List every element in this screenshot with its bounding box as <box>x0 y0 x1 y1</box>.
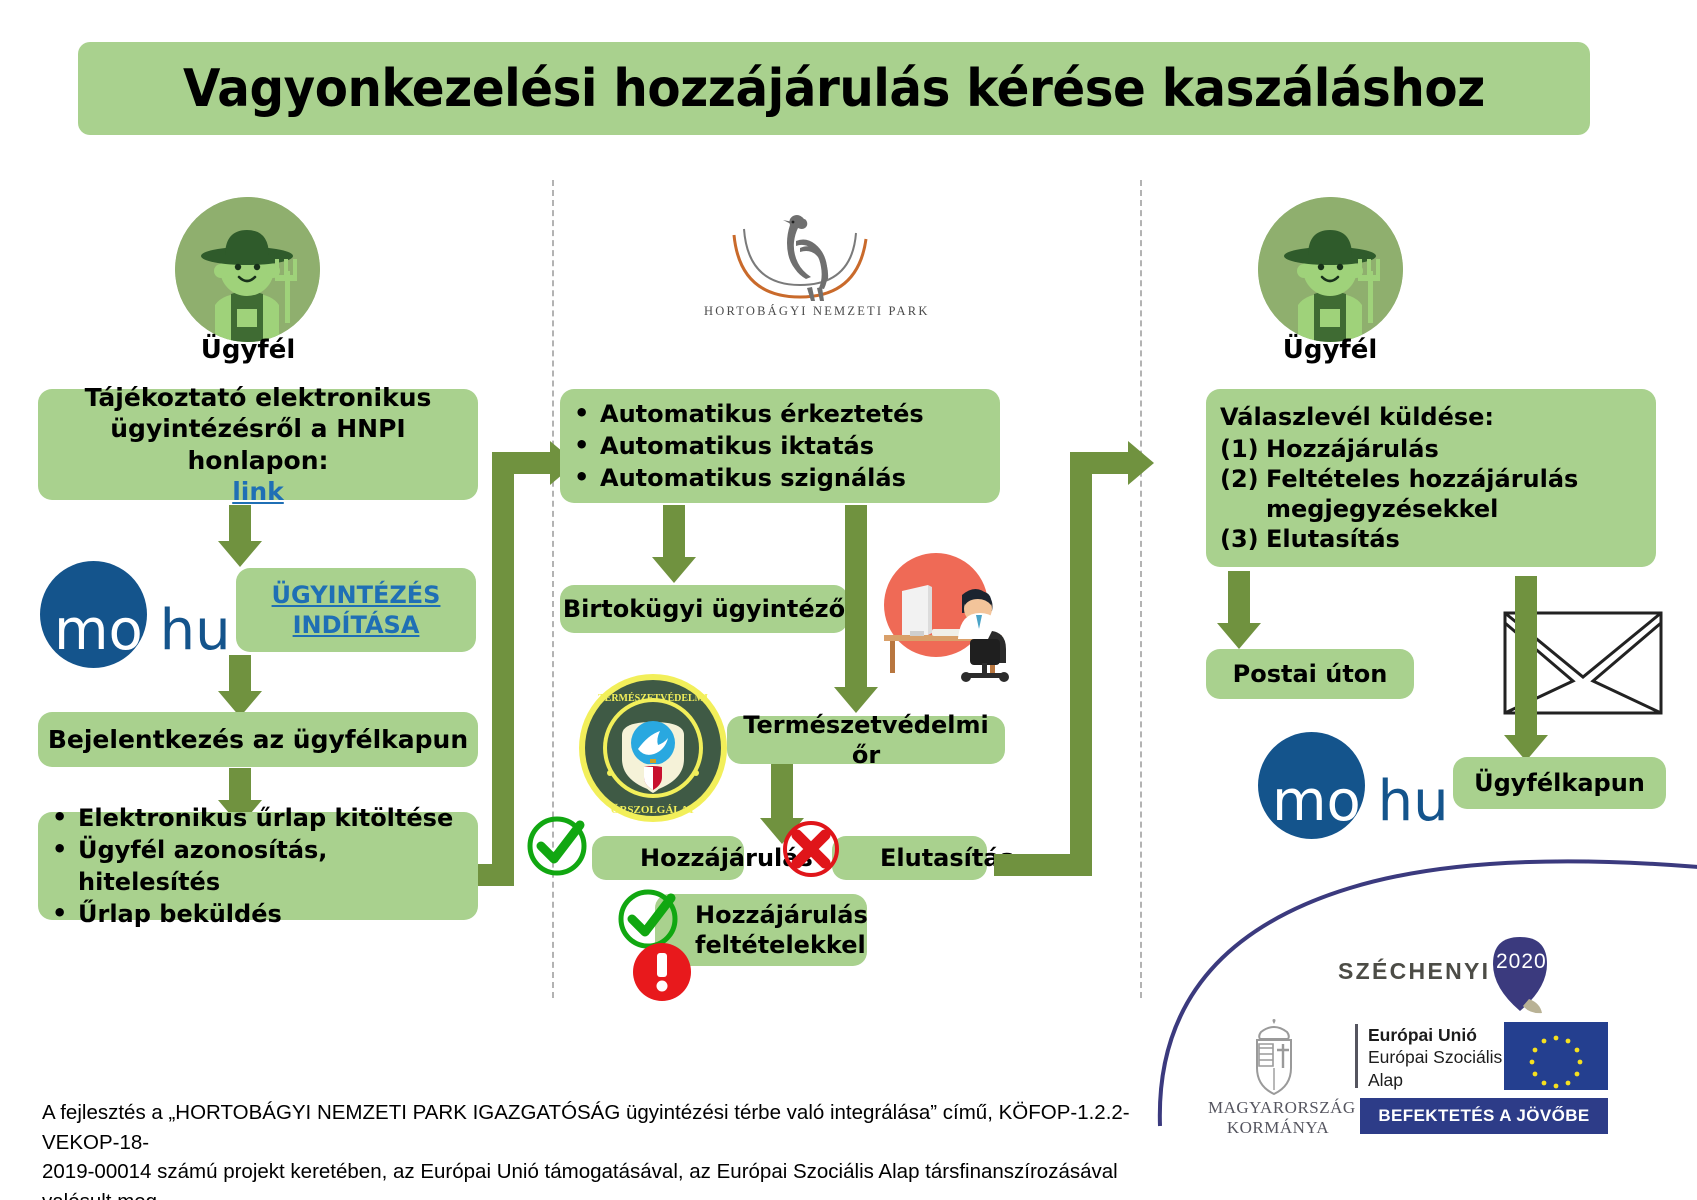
eu-text-block: Európai Unió Európai Szociális Alap <box>1368 1024 1508 1091</box>
automatic-steps-box: Automatikus érkeztetés Automatikus iktat… <box>560 389 1000 503</box>
eu-title: Európai Unió <box>1368 1024 1508 1046</box>
automatic-steps-list: Automatikus érkeztetés Automatikus iktat… <box>564 398 996 494</box>
list-item: Automatikus iktatás <box>564 430 996 462</box>
list-item-text: Feltételes hozzájárulás <box>1266 464 1642 494</box>
arrow-down-right-1 <box>1215 571 1263 649</box>
eu-flag-icon <box>1504 1022 1608 1090</box>
eu-sub-1: Európai Szociális <box>1368 1046 1508 1068</box>
ugyfelkapu-label: Ügyfélkapun <box>1474 768 1645 798</box>
avatar-label-left: Ügyfél <box>148 335 348 365</box>
outcome-approve-label: Hozzájárulás <box>640 843 744 873</box>
info-box-left: Tájékoztató elektronikus ügyintézésről a… <box>38 389 478 500</box>
start-case-line-1: ÜGYINTÉZÉS <box>272 580 441 610</box>
ugyfelkapu-box: Ügyfélkapun <box>1453 757 1666 809</box>
mohu-dot-left: . <box>142 598 160 663</box>
infographic-page: Vagyonkezelési hozzájárulás kérése kaszá… <box>0 0 1697 1200</box>
info-link[interactable]: link <box>232 476 284 507</box>
list-item: Automatikus szignálás <box>564 462 996 494</box>
footer-line-2: 2019-00014 számú projekt keretében, az E… <box>42 1157 1162 1200</box>
szechenyi-wordmark: SZÉCHENYI <box>1338 958 1490 985</box>
outcome-reject-box: Elutasítás <box>832 836 987 880</box>
list-item: Automatikus érkeztetés <box>564 398 996 430</box>
list-item: Ügyfél azonosítás, hitelesítés <box>42 834 474 898</box>
person-at-computer-icon <box>866 543 1026 683</box>
form-steps-list: Elektronikus űrlap kitöltése Ügyfél azon… <box>42 802 474 931</box>
footer-line-1: A fejlesztés a „HORTOBÁGYI NEMZETI PARK … <box>42 1098 1162 1157</box>
reply-letter-list: (1) Hozzájárulás (2) Feltételes hozzájár… <box>1220 434 1642 555</box>
postal-box: Postai úton <box>1206 649 1414 699</box>
eu-sub-2: Alap <box>1368 1069 1508 1091</box>
hungary-line-1: MAGYARORSZÁG <box>1208 1098 1348 1118</box>
termeszetvedelmi-orszolgalat-logo: TERMÉSZETVÉDELMI ŐRSZOLGÁLAT <box>578 673 728 823</box>
footer-disclaimer: A fejlesztés a „HORTOBÁGYI NEMZETI PARK … <box>42 1098 1162 1200</box>
ranger-box: Természetvédelmi őr <box>727 716 1005 764</box>
farmer-avatar-icon-right <box>1258 197 1403 342</box>
estate-officer-box: Birtokügyi ügyintéző <box>560 585 848 633</box>
info-line-2: ügyintézésről a HNPI honlapon: <box>48 413 468 476</box>
svg-text:ŐRSZOLGÁLAT: ŐRSZOLGÁLAT <box>611 804 696 816</box>
mohu-mo-left: mo <box>54 598 142 663</box>
list-item-number: (3) <box>1220 524 1266 554</box>
check-circle-icon-approve <box>524 813 590 879</box>
befektetes-label: BEFEKTETÉS A JÖVŐBE <box>1378 1106 1589 1126</box>
info-line-1: Tájékoztató elektronikus <box>85 382 432 413</box>
hungary-line-2: KORMÁNYA <box>1208 1118 1348 1138</box>
list-item-text: Elutasítás <box>1266 524 1642 554</box>
hungary-coat-of-arms-icon <box>1243 1018 1305 1096</box>
connector-middle-to-right <box>1056 438 1166 868</box>
list-item: Elektronikus űrlap kitöltése <box>42 802 474 834</box>
mohu-logo-left: mo.hu <box>40 561 260 668</box>
outcome-reject-label: Elutasítás <box>880 843 987 873</box>
reply-letter-box: Válaszlevél küldése: (1) Hozzájárulás (2… <box>1206 389 1656 567</box>
szechenyi-year: 2020 <box>1496 950 1547 974</box>
avatar-label-right: Ügyfél <box>1230 335 1430 365</box>
exclamation-circle-icon <box>632 942 692 1002</box>
list-item-number: (1) <box>1220 434 1266 464</box>
hungary-government-label: MAGYARORSZÁG KORMÁNYA <box>1208 1098 1348 1139</box>
outcome-approve-box: Hozzájárulás <box>592 836 744 880</box>
list-item: (3) Elutasítás <box>1220 524 1642 554</box>
mohu-hu-right: hu <box>1378 769 1449 834</box>
szechenyi-pin-icon <box>1490 935 1550 1023</box>
befektetes-a-jovobe-badge: BEFEKTETÉS A JÖVŐBE <box>1360 1098 1608 1134</box>
list-item: (2) Feltételes hozzájárulás <box>1220 464 1642 494</box>
title-banner: Vagyonkezelési hozzájárulás kérése kaszá… <box>78 42 1590 135</box>
mohu-logo-right: mo.hu <box>1258 732 1478 839</box>
arrow-down-middle-1 <box>650 505 698 583</box>
list-item: megjegyzésekkel <box>1220 494 1642 524</box>
connector-left-to-middle <box>478 438 588 878</box>
list-item-text: megjegyzésekkel <box>1266 494 1642 524</box>
mohu-hu-left: hu <box>160 598 231 663</box>
svg-text:TERMÉSZETVÉDELMI: TERMÉSZETVÉDELMI <box>598 692 708 704</box>
outcome-conditional-line-1: Hozzájárulás <box>695 900 867 930</box>
mohu-mo-right: mo <box>1272 769 1360 834</box>
arrow-down-left-1 <box>216 505 264 567</box>
arrow-down-left-2 <box>216 655 264 717</box>
list-item-number <box>1220 494 1266 524</box>
hnp-logo-caption: HORTOBÁGYI NEMZETI PARK <box>704 304 930 319</box>
arrow-down-right-2 <box>1502 576 1550 761</box>
ranger-label: Természetvédelmi őr <box>727 710 1005 770</box>
list-item: Űrlap beküldés <box>42 898 474 930</box>
reply-letter-title: Válaszlevél küldése: <box>1220 402 1642 432</box>
mohu-dot-right: . <box>1360 769 1378 834</box>
estate-officer-label: Birtokügyi ügyintéző <box>563 594 845 624</box>
login-box: Bejelentkezés az ügyfélkapun <box>38 712 478 767</box>
postal-label: Postai úton <box>1233 659 1388 689</box>
cross-circle-icon-reject <box>780 818 842 880</box>
login-box-label: Bejelentkezés az ügyfélkapun <box>48 724 468 755</box>
eu-divider <box>1355 1024 1358 1088</box>
start-case-button[interactable]: ÜGYINTÉZÉS INDÍTÁSA <box>236 568 476 652</box>
list-item: (1) Hozzájárulás <box>1220 434 1642 464</box>
page-title: Vagyonkezelési hozzájárulás kérése kaszá… <box>183 59 1485 119</box>
outcome-conditional-line-2: feltételekkel <box>695 930 867 960</box>
form-steps-box: Elektronikus űrlap kitöltése Ügyfél azon… <box>38 812 478 920</box>
list-item-text: Hozzájárulás <box>1266 434 1642 464</box>
list-item-number: (2) <box>1220 464 1266 494</box>
start-case-line-2: INDÍTÁSA <box>293 610 420 640</box>
farmer-avatar-icon-left <box>175 197 320 342</box>
